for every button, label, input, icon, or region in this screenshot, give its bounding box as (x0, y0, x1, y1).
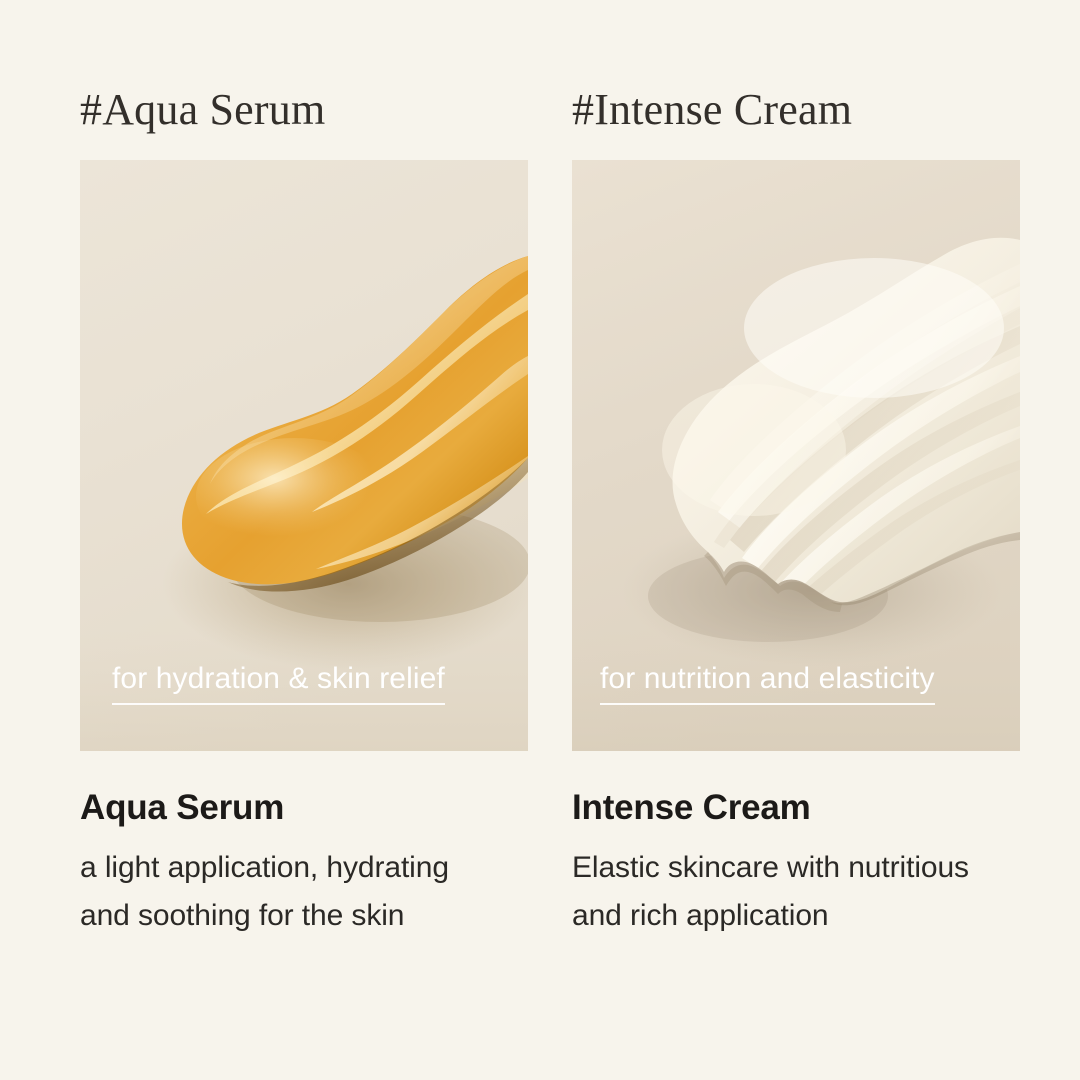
product-comparison-page: #Aqua Serum (0, 0, 1080, 1080)
product-column-intense-cream: #Intense Cream (540, 0, 1080, 1080)
product-description-aqua-serum: a light application, hydrating and sooth… (80, 844, 480, 941)
product-title-intense-cream: Intense Cream (572, 789, 1080, 828)
swatch-image-aqua-serum: for hydration & skin relief (80, 160, 528, 751)
hashtag-heading-aqua-serum: #Aqua Serum (80, 0, 540, 132)
comparison-columns: #Aqua Serum (0, 0, 1080, 1080)
overlay-caption-aqua-serum: for hydration & skin relief (112, 662, 445, 705)
swatch-image-intense-cream: for nutrition and elasticity (572, 160, 1020, 751)
overlay-caption-intense-cream: for nutrition and elasticity (600, 662, 935, 705)
product-title-aqua-serum: Aqua Serum (80, 789, 540, 828)
hashtag-heading-intense-cream: #Intense Cream (572, 0, 1080, 132)
product-column-aqua-serum: #Aqua Serum (0, 0, 540, 1080)
product-description-intense-cream: Elastic skincare with nutritious and ric… (572, 844, 972, 941)
product-info-intense-cream: Intense Cream Elastic skincare with nutr… (572, 789, 1080, 941)
product-info-aqua-serum: Aqua Serum a light application, hydratin… (80, 789, 540, 941)
